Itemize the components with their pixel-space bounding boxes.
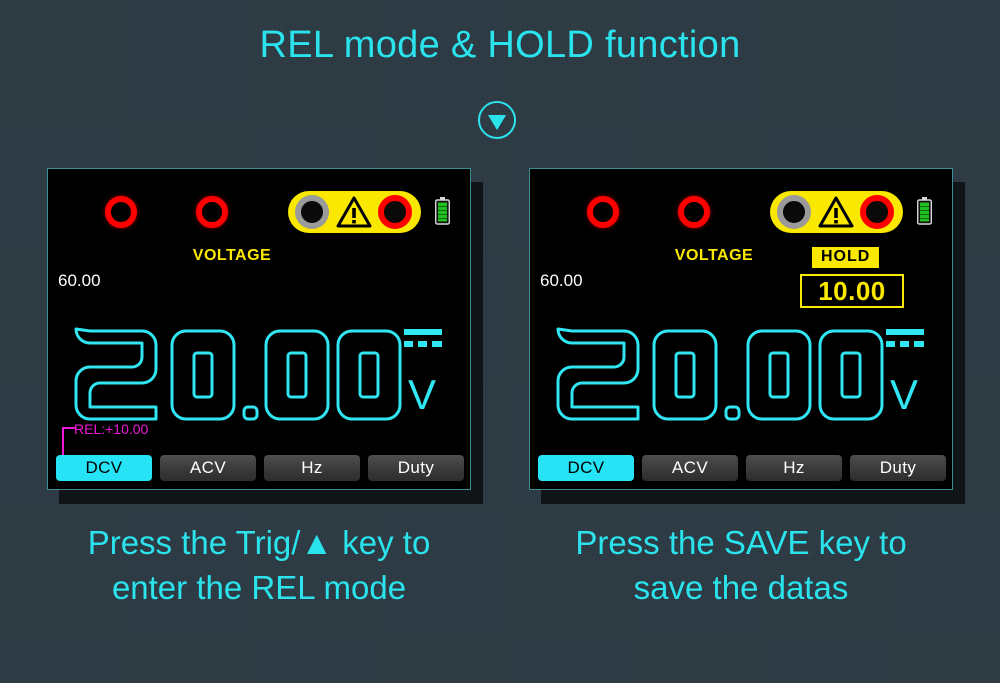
page-title: REL mode & HOLD function [0, 24, 1000, 67]
dc-icon [404, 329, 442, 347]
caption-rel: Press the Trig/▲ key to enter the REL mo… [24, 520, 494, 610]
status-icon-row [48, 189, 471, 235]
red-ring-icon [860, 195, 894, 229]
range-value: 60.00 [58, 271, 101, 291]
fkey-duty[interactable]: Duty [850, 455, 946, 481]
rel-value: REL:+10.00 [74, 421, 148, 437]
warning-triangle-icon [336, 196, 372, 228]
svg-text:V: V [408, 371, 436, 418]
fkey-acv[interactable]: ACV [642, 455, 738, 481]
hold-value: 10.00 [800, 274, 904, 308]
caption-line: save the datas [506, 565, 976, 610]
fkey-dcv[interactable]: DCV [538, 455, 634, 481]
red-ring-icon [678, 196, 710, 228]
lcd-screen: VOLTAGE 60.00 HOLD 10.00 [529, 168, 953, 490]
fkey-acv[interactable]: ACV [160, 455, 256, 481]
mode-label: VOLTAGE [530, 247, 953, 265]
gray-ring-icon [777, 195, 811, 229]
function-key-bar: DCV ACV Hz Duty [538, 455, 946, 481]
red-ring-icon [196, 196, 228, 228]
dc-icon [886, 329, 924, 347]
terminal-warning-pill [288, 191, 421, 233]
red-ring-icon [378, 195, 412, 229]
status-icon-row [530, 189, 953, 235]
warning-triangle-icon [818, 196, 854, 228]
status-badge-hold: HOLD [812, 247, 879, 268]
terminal-warning-pill [770, 191, 903, 233]
svg-text:V: V [890, 371, 918, 418]
fkey-hz[interactable]: Hz [264, 455, 360, 481]
fkey-dcv[interactable]: DCV [56, 455, 152, 481]
fkey-duty[interactable]: Duty [368, 455, 464, 481]
main-reading: V [48, 317, 471, 437]
chevron-down-circle-icon [477, 100, 517, 140]
multimeter-display-rel: VOLTAGE 60.00 [47, 168, 471, 490]
function-key-bar: DCV ACV Hz Duty [56, 455, 464, 481]
battery-icon [917, 197, 932, 225]
red-ring-icon [105, 196, 137, 228]
multimeter-display-hold: VOLTAGE 60.00 HOLD 10.00 [529, 168, 953, 490]
gray-ring-icon [295, 195, 329, 229]
caption-line: Press the SAVE key to [506, 520, 976, 565]
mode-label: VOLTAGE [48, 247, 471, 265]
caption-hold: Press the SAVE key to save the datas [506, 520, 976, 610]
caption-line: enter the REL mode [24, 565, 494, 610]
battery-icon [435, 197, 450, 225]
caption-line: Press the Trig/▲ key to [24, 520, 494, 565]
main-reading: V [530, 317, 953, 437]
fkey-hz[interactable]: Hz [746, 455, 842, 481]
red-ring-icon [587, 196, 619, 228]
lcd-screen: VOLTAGE 60.00 [47, 168, 471, 490]
range-value: 60.00 [540, 271, 583, 291]
